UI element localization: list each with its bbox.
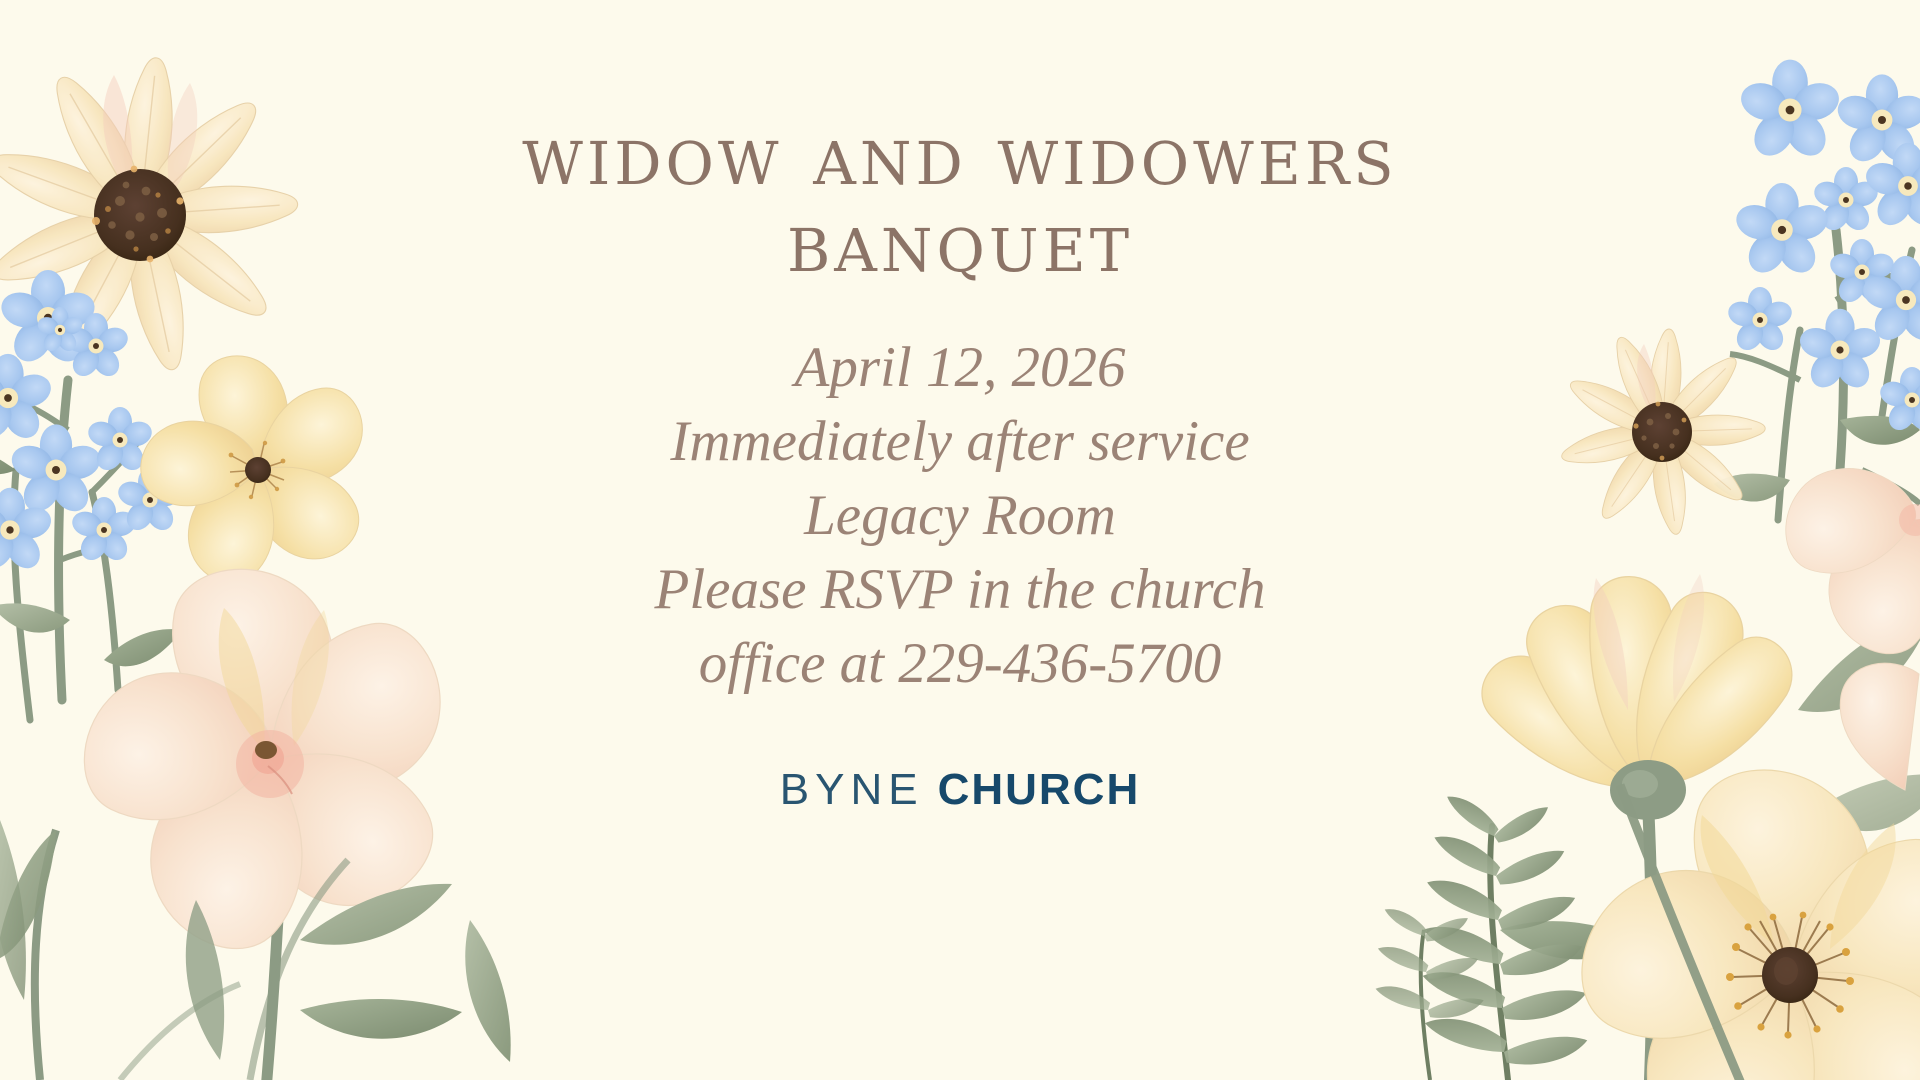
forget-me-not-cluster-top-right bbox=[1714, 60, 1920, 576]
logo-word-church: CHURCH bbox=[938, 765, 1141, 815]
detail-rsvp-line-1: Please RSVP in the church bbox=[460, 553, 1460, 627]
title-line-1: Widow and Widowers bbox=[340, 112, 1580, 199]
daisy-top-left-flower bbox=[0, 55, 299, 374]
poster-content: Widow and Widowers Banquet April 12, 202… bbox=[330, 0, 1590, 1080]
event-details-list: April 12, 2026 Immediately after service… bbox=[460, 331, 1460, 701]
poppy-bottom-right-flower bbox=[1561, 761, 1920, 1080]
poster-canvas: Widow and Widowers Banquet April 12, 202… bbox=[0, 0, 1920, 1080]
detail-location: Legacy Room bbox=[460, 479, 1460, 553]
detail-date: April 12, 2026 bbox=[460, 331, 1460, 405]
byne-church-logo: BYNE CHURCH bbox=[780, 765, 1140, 815]
detail-time: Immediately after service bbox=[460, 405, 1460, 479]
forget-me-not-cluster-left bbox=[0, 270, 291, 720]
partial-flower-right-edge bbox=[1779, 458, 1920, 670]
logo-word-byne: BYNE bbox=[780, 765, 924, 815]
partial-petal-right-bottom bbox=[1840, 663, 1919, 790]
page-title: Widow and Widowers Banquet bbox=[340, 112, 1580, 287]
detail-rsvp-line-2: office at 229-436-5700 bbox=[460, 627, 1460, 701]
title-line-2: Banquet bbox=[340, 199, 1580, 286]
